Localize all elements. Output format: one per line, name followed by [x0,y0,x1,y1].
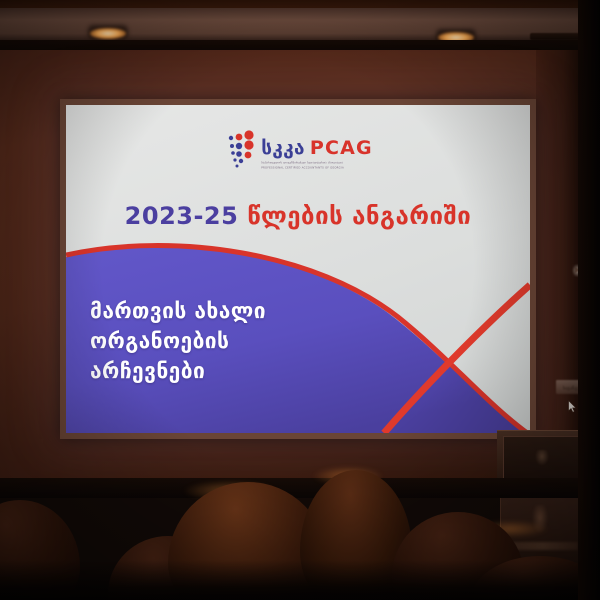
lectern-label [508,542,578,550]
logo-wordmark-en: PCAG [310,139,373,158]
headline-rest: წლების ანგარიში [247,202,471,230]
logo-subtitle-line1: საქართველოს ლიცენზირებულ ბუღალტერთა ასოც… [261,161,343,164]
mouse-cursor [568,400,577,413]
ceiling-panel [0,8,600,42]
slide-body-text: მართვის ახალი ორგანოების არჩევნები [90,297,420,386]
ceiling-vent [530,33,584,40]
slide-body-line-2: ორგანოების [90,327,420,357]
pcag-dot-matrix-logo-icon [223,129,257,169]
right-dark-edge [578,0,600,600]
headline-year-range: 2023-25 [125,202,239,230]
slide-body-line-1: მართვის ახალი [90,297,420,327]
slide-headline: 2023-25 წლების ანგარიში [66,202,530,230]
ceiling-light-1 [90,28,126,39]
presentation-slide: სკკა PCAG საქართველოს ლიცენზირებულ ბუღალ… [66,105,530,433]
logo-subtitle-line2: PROFESSIONAL CERTIFIED ACCOUNTANTS OF GE… [261,166,344,169]
photo-scene: სკკა PCAG საქართველოს ლიცენზირებულ ბუღალ… [0,0,600,600]
slide-body-line-3: არჩევნები [90,357,420,387]
foreground-shadow [0,560,600,600]
seat-row-shadow [0,478,600,498]
slide-logo: სკკა PCAG საქართველოს ლიცენზირებულ ბუღალ… [66,129,530,169]
laptop-logo-glint [535,450,549,466]
logo-wordmark-ka: სკკა [261,139,305,158]
